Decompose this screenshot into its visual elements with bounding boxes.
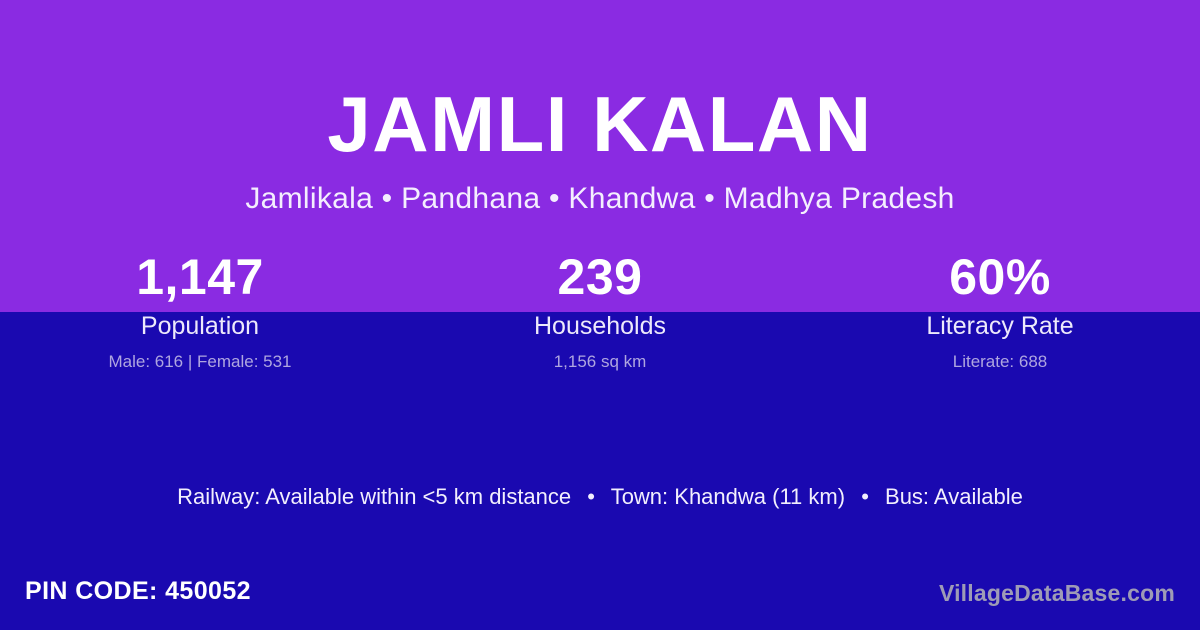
stats-row: 1,147 Population Male: 616 | Female: 531… [0,246,1200,374]
stat-households-label: Households [400,310,800,342]
page-title: JAMLI KALAN [0,84,1200,166]
stat-literacy-label: Literacy Rate [800,310,1200,342]
stat-population-label: Population [0,310,400,342]
info-bus: Bus: Available [885,484,1023,509]
stat-literacy: 60% Literacy Rate Literate: 688 [800,246,1200,374]
info-separator-1: • [577,484,605,510]
stat-population-value: 1,147 [0,246,400,308]
village-info-card: JAMLI KALAN Jamlikala • Pandhana • Khand… [0,0,1200,630]
stat-literacy-value: 60% [800,246,1200,308]
amenities-info-bar: Railway: Available within <5 km distance… [0,484,1200,510]
site-brand: VillageDataBase.com [939,580,1175,607]
info-town: Town: Khandwa (11 km) [611,484,845,509]
stat-literacy-count: Literate: 688 [800,350,1200,374]
stat-population: 1,147 Population Male: 616 | Female: 531 [0,246,400,374]
stat-households-value: 239 [400,246,800,308]
stat-households: 239 Households 1,156 sq km [400,246,800,374]
breadcrumb-location: Jamlikala • Pandhana • Khandwa • Madhya … [0,182,1200,216]
stat-households-area: 1,156 sq km [400,350,800,374]
info-separator-2: • [851,484,879,510]
pin-code: PIN CODE: 450052 [25,577,251,606]
info-railway: Railway: Available within <5 km distance [177,484,571,509]
stat-population-breakdown: Male: 616 | Female: 531 [0,350,400,374]
